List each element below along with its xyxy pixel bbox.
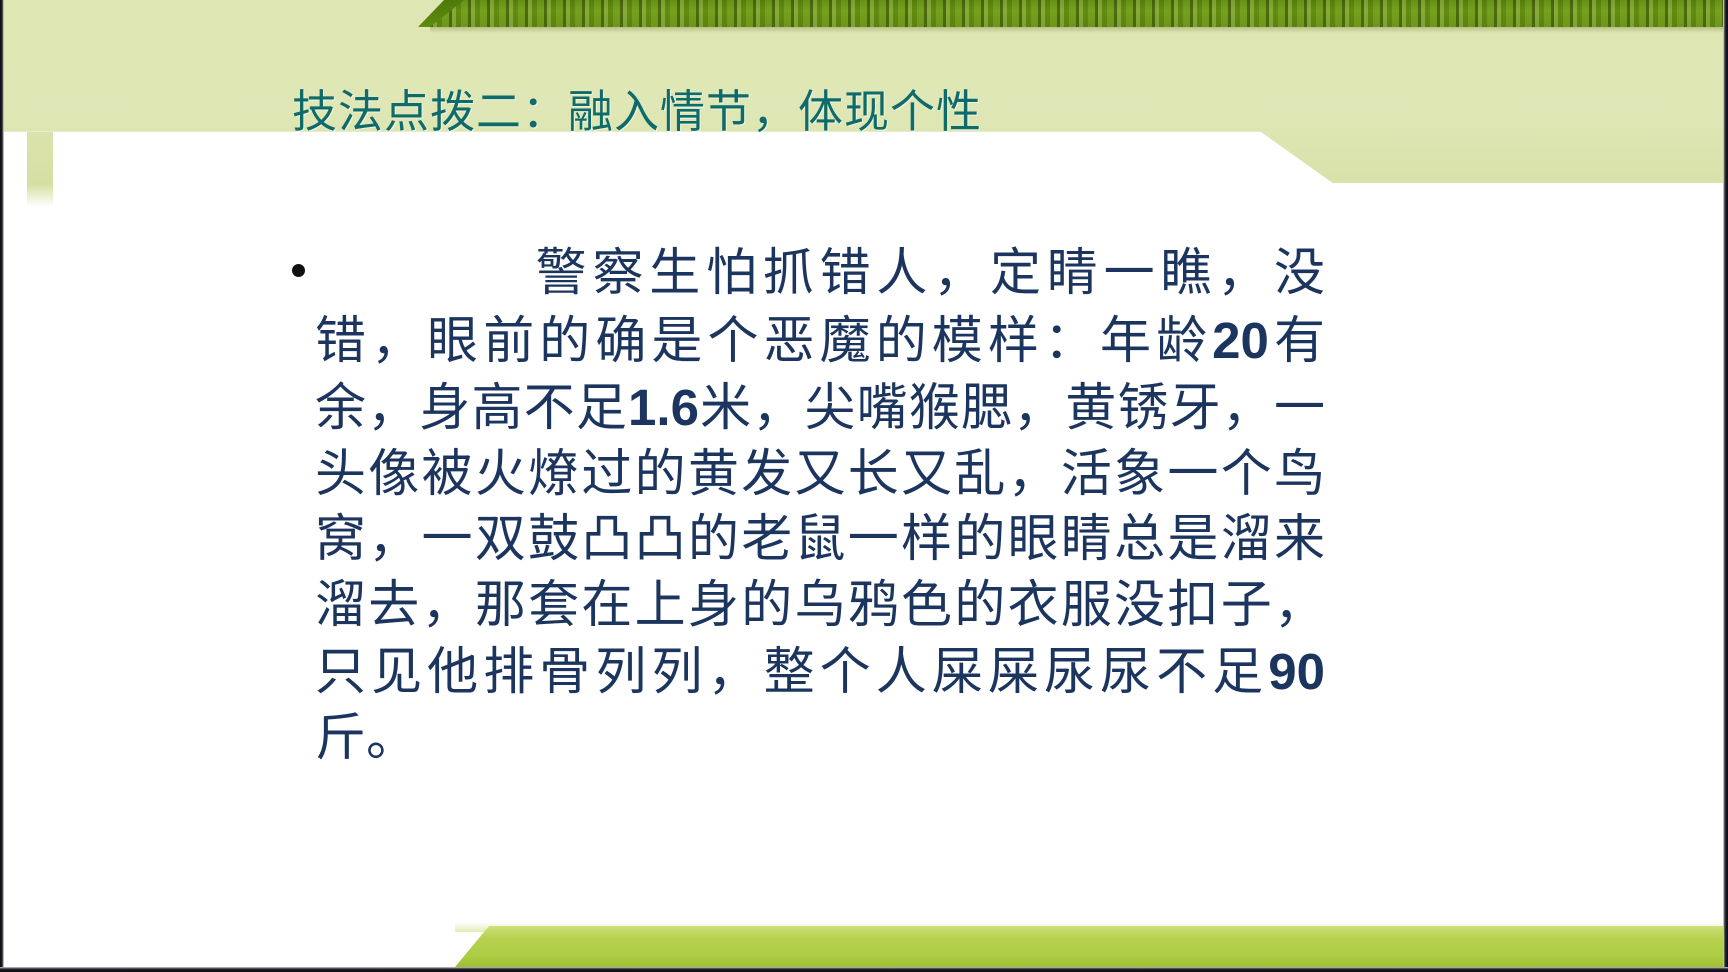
text-run: 斤。	[315, 711, 417, 767]
bottom-green-band	[455, 926, 1723, 967]
slide-border-right	[1723, 0, 1728, 972]
slide-title: 技法点拨二：融入情节，体现个性	[292, 88, 982, 138]
bullet-list-item: 警察生怕抓错人，定睛一瞧，没错，眼前的确是个恶魔的模样：年龄20有余，身高不足1…	[315, 242, 1325, 772]
slide-border-left	[0, 0, 4, 972]
top-striped-decoration	[430, 0, 1723, 27]
emphasis-number: 1.6	[628, 379, 699, 436]
text-run: 警察生怕抓错人，定睛一瞧，没错，眼前的确是个恶魔的模样：年龄	[315, 246, 1325, 370]
bullet-paragraph-text: 警察生怕抓错人，定睛一瞧，没错，眼前的确是个恶魔的模样：年龄20有余，身高不足1…	[315, 242, 1325, 772]
top-stripe-shadow	[430, 27, 1723, 33]
presentation-slide: 技法点拨二：融入情节，体现个性 警察生怕抓错人，定睛一瞧，没错，眼前的确是个恶魔…	[0, 0, 1728, 972]
header-left-tab	[27, 132, 53, 207]
emphasis-number: 20	[1212, 312, 1269, 369]
slide-border-bottom	[0, 967, 1728, 972]
bullet-point-icon	[292, 264, 305, 277]
slide-body: 警察生怕抓错人，定睛一瞧，没错，眼前的确是个恶魔的模样：年龄20有余，身高不足1…	[315, 242, 1325, 772]
emphasis-number: 90	[1268, 643, 1325, 700]
